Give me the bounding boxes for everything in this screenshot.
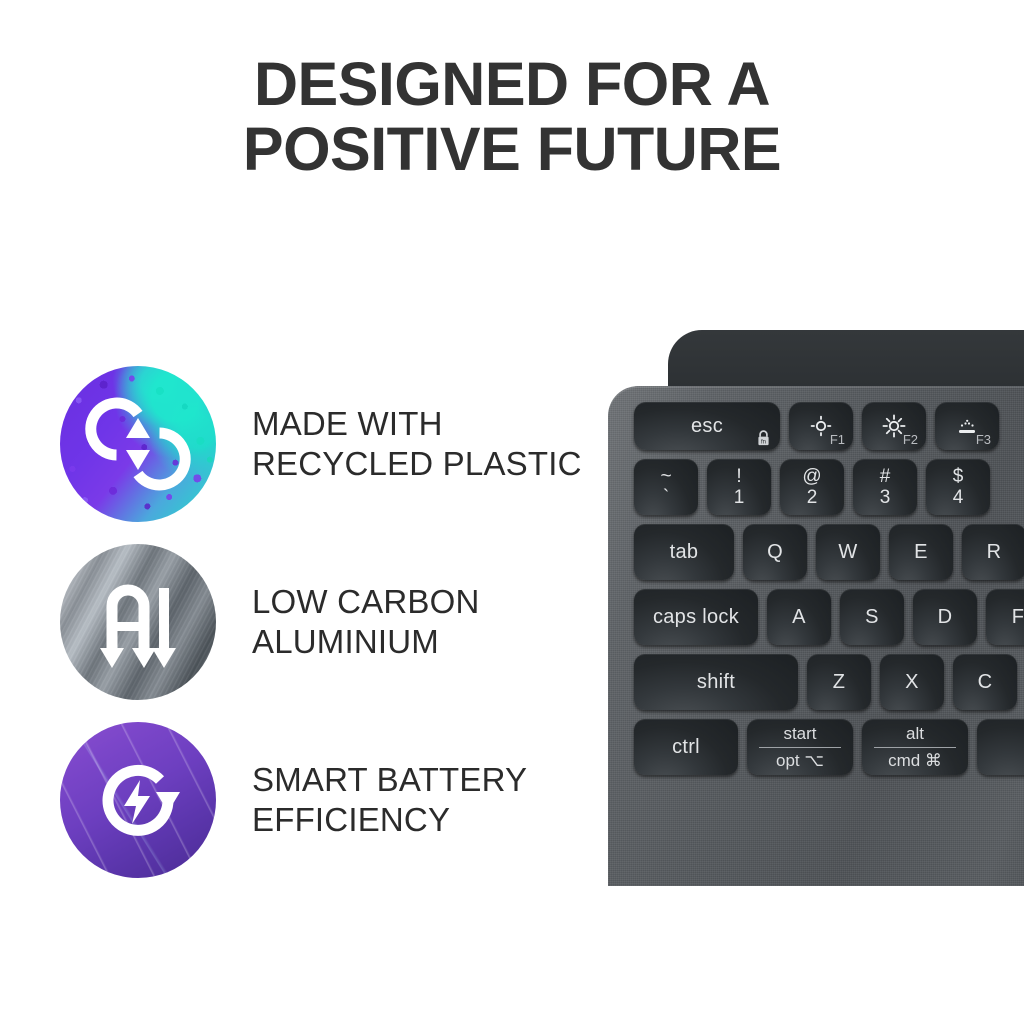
recycle-arrows-icon <box>60 366 216 522</box>
aluminium-down-arrows-icon <box>60 544 216 700</box>
keyboard-row-shift: shift Z X C <box>634 654 1024 710</box>
key-w[interactable]: W <box>816 524 880 580</box>
keyboard-row-function: esc fn F1 <box>634 402 1024 450</box>
key-f[interactable]: F <box>986 589 1024 645</box>
key-2[interactable]: @ 2 <box>780 459 844 515</box>
feature-item-smart-battery-efficiency: SMART BATTERY EFFICIENCY <box>60 718 600 882</box>
battery-bolt-refresh-glyph <box>60 722 216 878</box>
key-d[interactable]: D <box>913 589 977 645</box>
key-z[interactable]: Z <box>807 654 871 710</box>
key-f1-brightness-down[interactable]: F1 <box>789 402 853 450</box>
key-c[interactable]: C <box>953 654 1017 710</box>
feature-item-low-carbon-aluminium: LOW CARBON ALUMINIUM <box>60 540 600 704</box>
key-backtick[interactable]: ~ ` <box>634 459 698 515</box>
page-title: DESIGNED FOR A POSITIVE FUTURE <box>0 52 1024 181</box>
key-ctrl[interactable]: ctrl <box>634 719 738 775</box>
page-title-line-2: POSITIVE FUTURE <box>0 117 1024 182</box>
key-shift[interactable]: shift <box>634 654 798 710</box>
battery-bolt-refresh-icon <box>60 722 216 878</box>
key-r[interactable]: R <box>962 524 1024 580</box>
key-s[interactable]: S <box>840 589 904 645</box>
recycle-arrows-glyph <box>60 366 216 522</box>
feature-label-low-carbon-aluminium: LOW CARBON ALUMINIUM <box>252 582 480 663</box>
key-f3-backlight[interactable]: F3 <box>935 402 999 450</box>
feature-label-smart-battery-efficiency: SMART BATTERY EFFICIENCY <box>252 760 527 841</box>
key-3[interactable]: # 3 <box>853 459 917 515</box>
key-start-opt[interactable]: start opt ⌥ <box>747 719 853 775</box>
key-esc[interactable]: esc fn <box>634 402 780 450</box>
fn-lock-icon: fn <box>755 429 772 446</box>
svg-text:fn: fn <box>761 439 766 445</box>
page-title-line-1: DESIGNED FOR A <box>0 52 1024 117</box>
feature-item-recycled-plastic: MADE WITH RECYCLED PLASTIC <box>60 362 600 526</box>
key-f2-brightness-up[interactable]: F2 <box>862 402 926 450</box>
keyboard-row-modifiers: ctrl start opt ⌥ alt cmd ⌘ <box>634 719 1024 775</box>
key-e[interactable]: E <box>889 524 953 580</box>
key-q[interactable]: Q <box>743 524 807 580</box>
keyboard-rows: esc fn F1 <box>634 402 1024 784</box>
key-4[interactable]: $ 4 <box>926 459 990 515</box>
key-a[interactable]: A <box>767 589 831 645</box>
feature-label-recycled-plastic: MADE WITH RECYCLED PLASTIC <box>252 404 582 485</box>
feature-list: MADE WITH RECYCLED PLASTIC LOW CARBON AL… <box>60 362 600 882</box>
key-spacebar-partial[interactable] <box>977 719 1024 775</box>
key-x[interactable]: X <box>880 654 944 710</box>
aluminium-down-arrows-glyph <box>60 544 216 700</box>
key-1[interactable]: ! 1 <box>707 459 771 515</box>
key-tab[interactable]: tab <box>634 524 734 580</box>
keyboard-product-image: esc fn F1 <box>608 330 1024 890</box>
keyboard-row-qwerty: tab Q W E R <box>634 524 1024 580</box>
keyboard-row-numbers: ~ ` ! 1 @ 2 <box>634 459 1024 515</box>
keyboard-row-home: caps lock A S D F <box>634 589 1024 645</box>
key-alt-cmd[interactable]: alt cmd ⌘ <box>862 719 968 775</box>
keyboard-key-deck: esc fn F1 <box>608 386 1024 886</box>
key-caps-lock[interactable]: caps lock <box>634 589 758 645</box>
